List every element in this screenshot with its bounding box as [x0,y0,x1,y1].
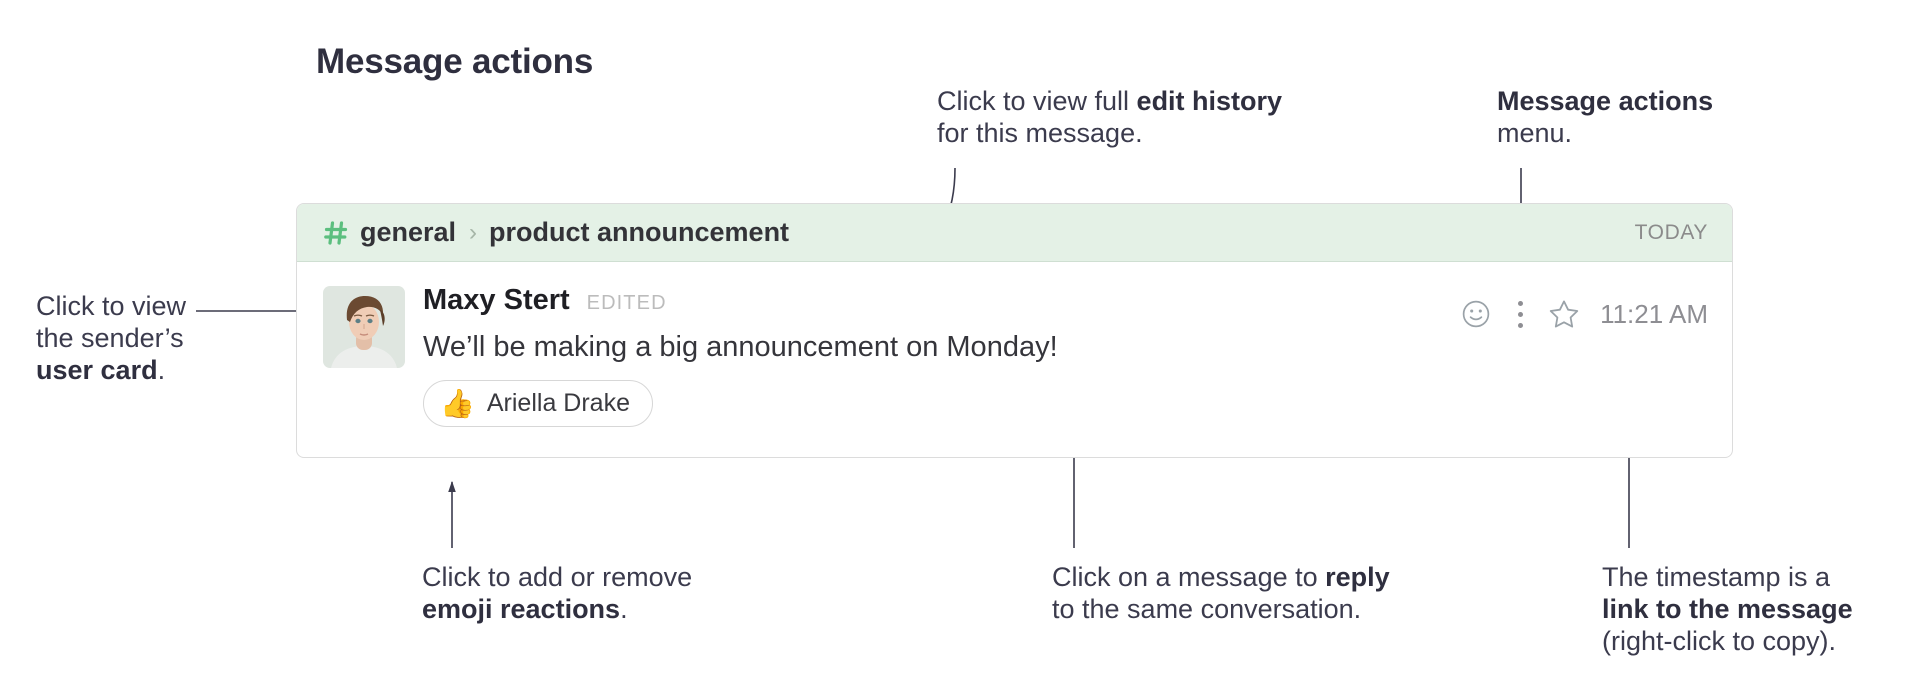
date-label: TODAY [1635,221,1708,245]
star-message-button[interactable] [1542,292,1586,336]
message-action-icons: 11:21 AM [1454,292,1708,336]
avatar[interactable] [323,286,405,368]
annotation-emoji-reactions: Click to add or removeemoji reactions. [422,562,692,626]
annotation-user-card: Click to viewthe sender’suser card. [36,291,186,387]
page-title: Message actions [316,42,593,82]
message-actions-menu-button[interactable] [1498,292,1542,336]
figure-canvas: Message actions Click to view full edit … [0,0,1924,696]
star-icon [1548,298,1580,330]
hash-icon[interactable] [323,220,349,246]
add-reaction-button[interactable] [1454,292,1498,336]
message-timestamp[interactable]: 11:21 AM [1600,299,1708,330]
annotation-message-actions-menu: Message actionsmenu. [1497,86,1713,150]
edited-label[interactable]: EDITED [587,292,667,315]
message-row[interactable]: Maxy Stert EDITED We’ll be making a big … [297,262,1732,458]
topic-name[interactable]: product announcement [489,217,789,248]
breadcrumb-separator-icon: › [469,221,477,245]
sender-name[interactable]: Maxy Stert [423,284,570,317]
channel-name[interactable]: general [360,217,456,248]
smiley-face-icon [1461,299,1491,329]
reaction-user-name: Ariella Drake [487,389,630,418]
annotation-timestamp-link: The timestamp is alink to the message(ri… [1602,562,1853,658]
reaction-pill[interactable]: 👍 Ariella Drake [423,380,653,427]
annotation-edit-history: Click to view full edit historyfor this … [937,86,1282,150]
message-card[interactable]: general › product announcement TODAY [296,203,1733,458]
thumbs-up-emoji: 👍 [440,390,475,418]
message-recipient-bar: general › product announcement TODAY [297,204,1732,262]
annotation-reply: Click on a message to replyto the same c… [1052,562,1390,626]
kebab-menu-icon [1518,301,1523,328]
